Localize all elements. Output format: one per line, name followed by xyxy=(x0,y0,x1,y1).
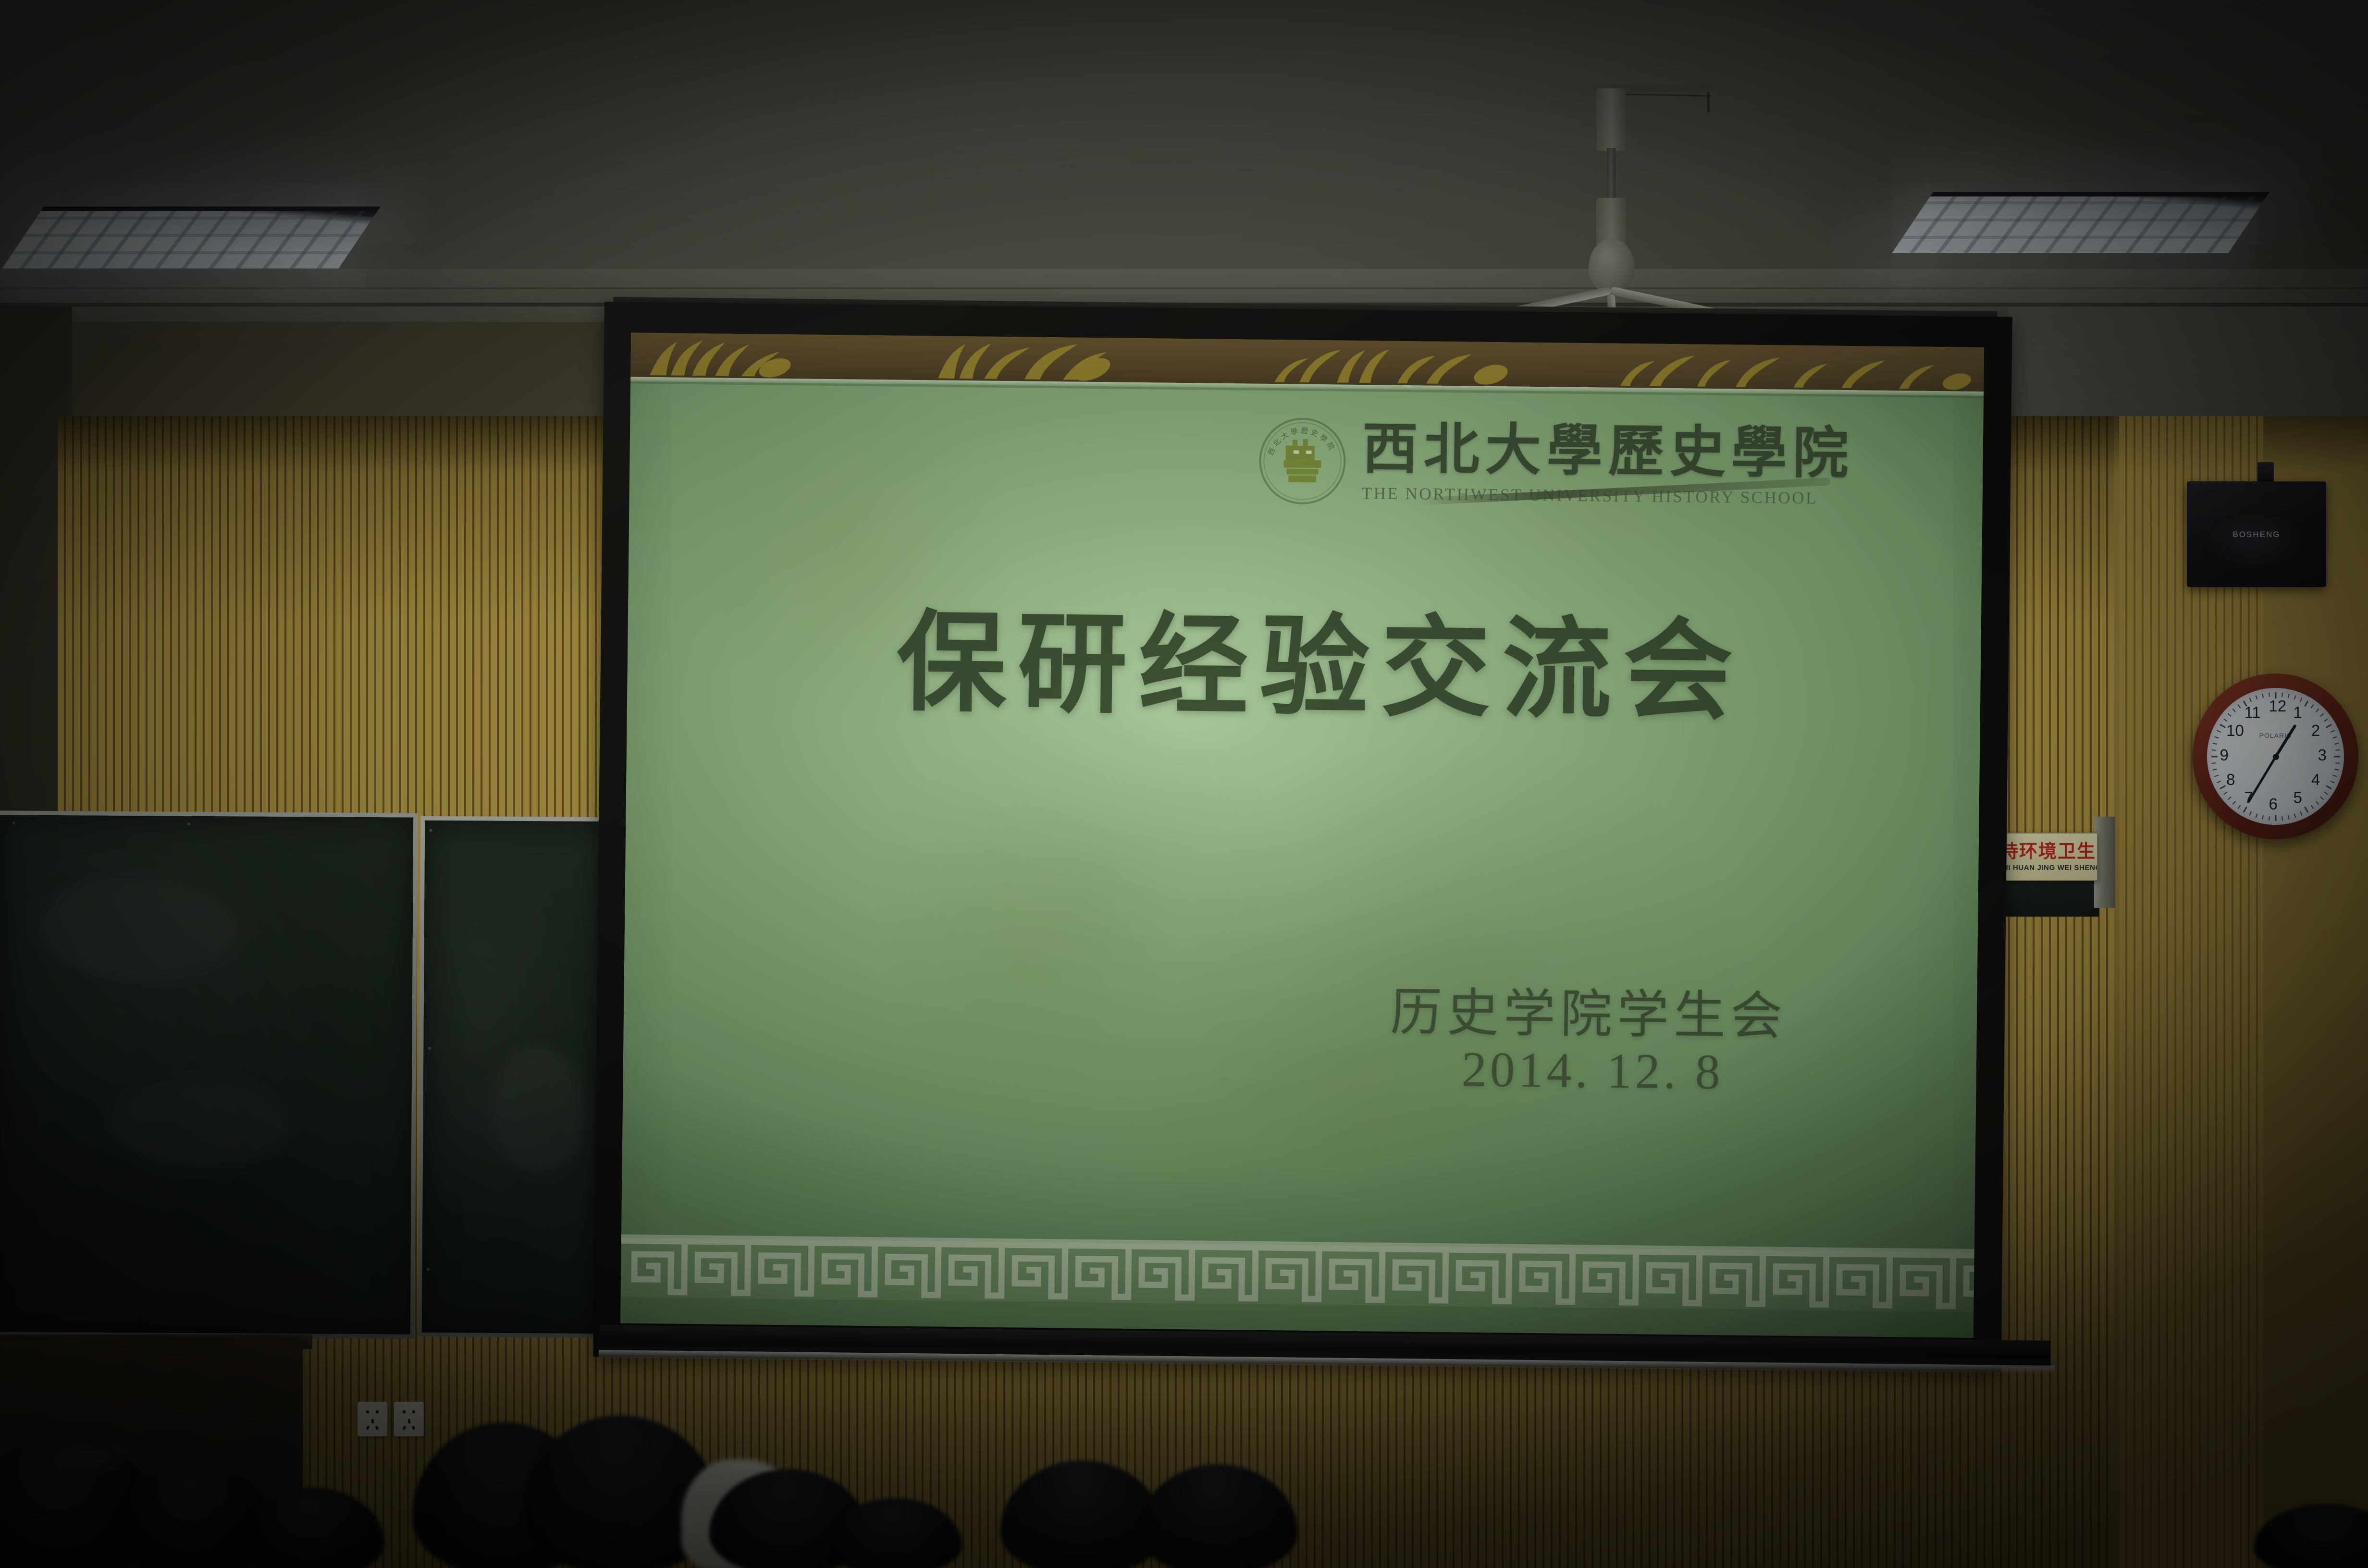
lecture-hall-photo: BOSHENG POLARIS 121234567891011 请保持环境卫生 … xyxy=(0,0,2368,1568)
clock-tick xyxy=(2304,700,2308,707)
clock-numeral-6: 6 xyxy=(2269,795,2278,813)
clock-tick xyxy=(2294,695,2296,699)
outlet-pin-slot xyxy=(412,1410,415,1413)
outlet-pin-slot xyxy=(366,1410,369,1413)
acoustic-wall-panel-right xyxy=(2119,416,2263,1568)
clock-tick xyxy=(2334,743,2339,745)
outlet-pin-slot xyxy=(408,1419,410,1423)
clock-tick xyxy=(2310,805,2314,808)
louver-grid xyxy=(2,211,377,269)
clock-tick xyxy=(2294,813,2296,818)
clock-tick xyxy=(2299,811,2302,815)
ceiling xyxy=(0,0,2368,307)
chalkboard-surface xyxy=(0,815,413,1334)
clock-tick xyxy=(2237,704,2241,708)
clock-tick xyxy=(2332,736,2337,738)
clock-numeral-4: 4 xyxy=(2311,771,2320,789)
louver-grid xyxy=(1892,196,2267,253)
clock-numeral-2: 2 xyxy=(2311,722,2320,740)
clock-tick xyxy=(2275,815,2276,821)
outlet-pin-slot xyxy=(366,1425,370,1430)
speaker-brand-label: BOSHENG xyxy=(2232,530,2280,539)
clock-tick xyxy=(2212,743,2217,745)
wall-power-outlet[interactable] xyxy=(394,1402,424,1436)
clock-tick xyxy=(2237,805,2241,808)
screen-black-border: 西北大學歷史學院 xyxy=(593,302,2012,1372)
clock-tick xyxy=(2255,813,2257,818)
northwest-university-seal-icon: 西北大學歷史學院 xyxy=(1259,417,1346,505)
clock-tick xyxy=(2211,762,2216,764)
clock-tick xyxy=(2324,791,2328,795)
chalk-smudge xyxy=(37,878,239,980)
board-screw xyxy=(428,1047,431,1050)
clock-numeral-12: 12 xyxy=(2269,697,2287,715)
clock-tick xyxy=(2214,774,2219,777)
clock-numeral-10: 10 xyxy=(2226,722,2244,740)
clock-tick xyxy=(2282,816,2283,821)
clock-tick xyxy=(2288,815,2290,820)
slide-organization: 历史学院学生会 xyxy=(1390,970,1788,1050)
clock-tick xyxy=(2288,693,2290,698)
clock-tick xyxy=(2262,693,2264,698)
clock-tick xyxy=(2214,736,2219,738)
speaker-cone xyxy=(2206,514,2307,572)
fan-down-rod xyxy=(1607,148,1616,200)
wall-power-outlet[interactable] xyxy=(358,1402,387,1436)
troffer-light-right xyxy=(1892,192,2269,253)
clock-tick xyxy=(2304,807,2308,813)
clock-numeral-1: 1 xyxy=(2294,703,2302,722)
clock-tick xyxy=(2211,756,2218,757)
clock-tick xyxy=(2310,704,2314,708)
clock-tick xyxy=(2262,815,2264,820)
slide-main-title: 保研经验交流会 xyxy=(896,605,1762,729)
clock-tick xyxy=(2217,780,2221,783)
clock-numeral-9: 9 xyxy=(2220,746,2229,764)
clock-face: POLARIS 121234567891011 xyxy=(2207,688,2344,825)
outlet-pin-slot xyxy=(376,1410,379,1413)
clock-tick xyxy=(2334,756,2340,757)
ceiling-seam xyxy=(0,287,2368,289)
clock-tick xyxy=(2220,785,2226,789)
clock-tick xyxy=(2268,692,2269,697)
presentation-slide: 西北大學歷史學院 xyxy=(620,333,1984,1338)
chalk-smudge xyxy=(108,1080,291,1168)
clock-tick xyxy=(2335,749,2340,750)
clock-tick xyxy=(2243,807,2247,813)
clock-tick xyxy=(2315,708,2319,712)
clock-numeral-3: 3 xyxy=(2318,746,2327,764)
ceiling-wire-drop xyxy=(1707,91,1710,112)
outlet-pin-slot xyxy=(371,1419,374,1423)
chalkboard-surface xyxy=(422,821,623,1334)
clock-tick xyxy=(2232,708,2236,712)
clock-tick xyxy=(2255,695,2257,699)
fan-canopy xyxy=(1596,88,1626,151)
slide-date: 2014. 12. 8 xyxy=(1461,1041,1724,1101)
clock-numeral-8: 8 xyxy=(2226,771,2235,789)
clock-tick xyxy=(2326,785,2332,789)
clock-tick xyxy=(2217,730,2221,732)
clock-tick xyxy=(2315,801,2319,805)
clock-tick xyxy=(2326,723,2332,728)
clock-tick xyxy=(2330,780,2334,783)
fan-motor-housing xyxy=(1589,239,1635,292)
board-screw xyxy=(427,1268,430,1271)
outlet-pin-slot xyxy=(375,1425,379,1430)
logo-chinese-name: 西北大學歷史學院 xyxy=(1362,420,1854,481)
clock-tick xyxy=(2334,769,2339,771)
gate-tower-icon xyxy=(1281,432,1324,486)
clock-numeral-11: 11 xyxy=(2245,703,2261,722)
hair-highlight xyxy=(48,1440,139,1474)
board-screw xyxy=(187,822,190,826)
clock-tick xyxy=(2223,791,2227,795)
outlet-pin-slot xyxy=(403,1425,407,1430)
clock-tick xyxy=(2249,811,2251,815)
clock-tick xyxy=(2282,692,2283,697)
board-screw xyxy=(12,821,15,825)
clock-tick xyxy=(2220,723,2226,728)
wall-clock: POLARIS 121234567891011 xyxy=(2193,674,2358,839)
clock-tick xyxy=(2249,698,2251,702)
clock-tick xyxy=(2324,718,2328,722)
outlet-pin-slot xyxy=(403,1410,406,1413)
clock-tick xyxy=(2320,713,2324,717)
clock-tick xyxy=(2227,713,2231,717)
clock-tick xyxy=(2268,816,2269,821)
clock-tick xyxy=(2212,769,2217,771)
clock-tick xyxy=(2227,796,2231,800)
clock-tick xyxy=(2335,762,2340,764)
blackboard-panel-left xyxy=(0,810,418,1338)
projection-screen-assembly: 西北大學歷史學院 xyxy=(604,297,2093,1381)
clock-tick xyxy=(2332,774,2337,777)
clock-center-pin xyxy=(2273,754,2279,760)
board-screw xyxy=(429,829,432,832)
clock-tick xyxy=(2211,749,2216,750)
clock-tick xyxy=(2320,796,2324,800)
clock-numeral-5: 5 xyxy=(2294,788,2302,807)
clock-tick xyxy=(2299,698,2302,702)
chalk-smudge xyxy=(491,1047,588,1173)
clock-tick xyxy=(2232,801,2236,805)
outlet-pin-slot xyxy=(412,1425,416,1430)
clock-tick xyxy=(2330,730,2334,732)
wall-speaker: BOSHENG xyxy=(2187,481,2326,587)
troffer-light-left xyxy=(2,207,380,269)
